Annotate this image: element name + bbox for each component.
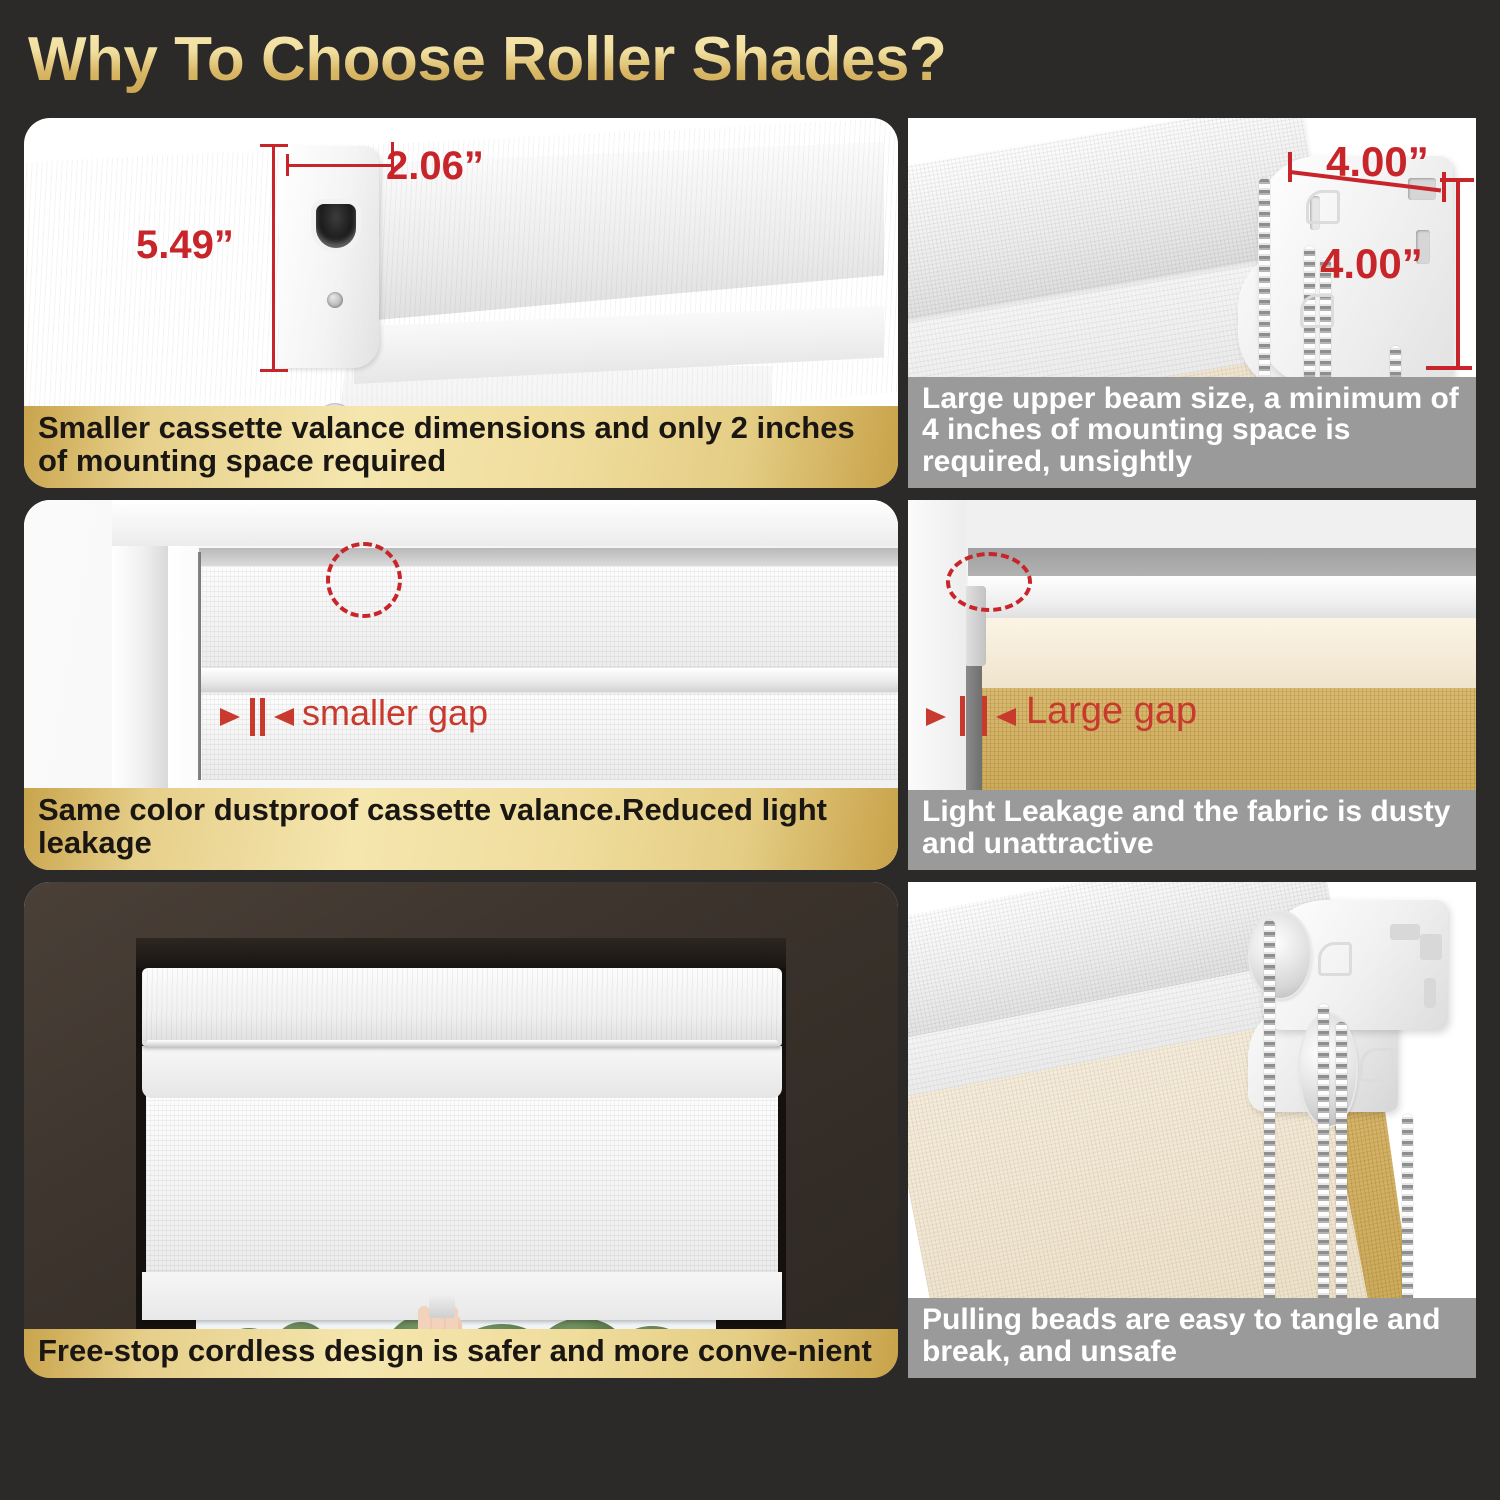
arrow-left-icon bbox=[274, 708, 294, 726]
panel-large-beam: 4.00” 4.00” Large upper beam size, a min… bbox=[908, 118, 1476, 488]
recess-top-shadow bbox=[136, 938, 786, 968]
bracket-arrow-icon bbox=[1318, 942, 1352, 976]
cassette-slot bbox=[316, 204, 356, 248]
valance-seam bbox=[146, 1040, 778, 1047]
shade-fabric-upper bbox=[202, 562, 898, 672]
panel-smaller-cassette: 5.49” 2.06” Smaller cassette valance dim… bbox=[24, 118, 898, 488]
gap-tick-left bbox=[250, 698, 255, 736]
panel-5-photo bbox=[24, 882, 898, 1378]
panel-cordless-design: Free-stop cordless design is safer and m… bbox=[24, 882, 898, 1378]
bottom-rail bbox=[142, 1272, 782, 1320]
mid-rail bbox=[200, 668, 898, 692]
valance-lower bbox=[142, 1046, 782, 1098]
panel-pulling-beads: Pulling beads are easy to tangle and bre… bbox=[908, 882, 1476, 1378]
dimension-tick-right bbox=[1442, 172, 1446, 202]
valance-upper bbox=[142, 968, 782, 1046]
gap-label: smaller gap bbox=[302, 692, 488, 734]
title-bar: Why To Choose Roller Shades? bbox=[0, 0, 1500, 108]
gap-tick-right bbox=[982, 696, 987, 736]
bracket-arrow-icon bbox=[1306, 190, 1340, 224]
dimension-tick-top bbox=[1440, 178, 1474, 182]
dimension-label-height: 5.49” bbox=[136, 223, 234, 268]
page-title: Why To Choose Roller Shades? bbox=[28, 24, 946, 95]
highlight-circle bbox=[326, 542, 402, 618]
dimension-tick-left bbox=[1288, 152, 1292, 182]
bracket-notch bbox=[1420, 934, 1442, 960]
bracket-arrow-icon bbox=[1300, 294, 1334, 328]
screw-icon bbox=[327, 292, 343, 308]
highlight-circle bbox=[946, 552, 1032, 612]
panel-2-caption: Large upper beam size, a minimum of 4 in… bbox=[908, 377, 1476, 488]
bracket-slot bbox=[1424, 978, 1436, 1008]
bead-chain[interactable] bbox=[1259, 178, 1270, 408]
panel-6-caption: Pulling beads are easy to tangle and bre… bbox=[908, 1298, 1476, 1378]
dimension-tick-bottom bbox=[1426, 366, 1472, 370]
panel-smaller-gap: smaller gap Same color dustproof cassett… bbox=[24, 500, 898, 870]
gap-label: Large gap bbox=[1026, 690, 1197, 733]
dimension-line-vertical bbox=[1456, 180, 1460, 370]
cream-valance bbox=[970, 618, 1476, 688]
dimension-label-width: 2.06” bbox=[386, 144, 484, 189]
panel-5-caption: Free-stop cordless design is safer and m… bbox=[24, 1329, 898, 1378]
dimension-tick-bottom bbox=[260, 369, 288, 372]
gap-tick-left bbox=[960, 696, 965, 736]
dimension-label-height: 4.00” bbox=[1320, 240, 1423, 288]
dimension-line-vertical bbox=[272, 146, 275, 372]
dimension-line-horizontal bbox=[286, 164, 394, 167]
dimension-tick-left bbox=[286, 154, 289, 176]
headrail bbox=[199, 548, 898, 566]
pulley-wheel bbox=[1250, 912, 1310, 998]
shade-fabric-main bbox=[146, 1096, 778, 1276]
arrow-right-icon bbox=[220, 708, 240, 726]
ceiling bbox=[908, 500, 1476, 552]
dimension-tick-top bbox=[260, 144, 288, 147]
panel-3-caption: Same color dustproof cassette valance.Re… bbox=[24, 788, 898, 870]
bracket-notch bbox=[1390, 924, 1420, 940]
bracket-arrow-icon bbox=[1360, 1048, 1394, 1082]
window-frame-top bbox=[112, 500, 898, 546]
arrow-right-icon bbox=[926, 708, 946, 726]
panel-large-gap: Large gap Light Leakage and the fabric i… bbox=[908, 500, 1476, 870]
cassette-end-cap bbox=[279, 146, 379, 368]
panel-4-caption: Light Leakage and the fabric is dusty an… bbox=[908, 790, 1476, 870]
arrow-left-icon bbox=[996, 708, 1016, 726]
dimension-label-width: 4.00” bbox=[1326, 138, 1429, 186]
gap-tick-right bbox=[260, 698, 265, 736]
pull-handle[interactable] bbox=[429, 1296, 455, 1318]
panel-1-caption: Smaller cassette valance dimensions and … bbox=[24, 406, 898, 488]
